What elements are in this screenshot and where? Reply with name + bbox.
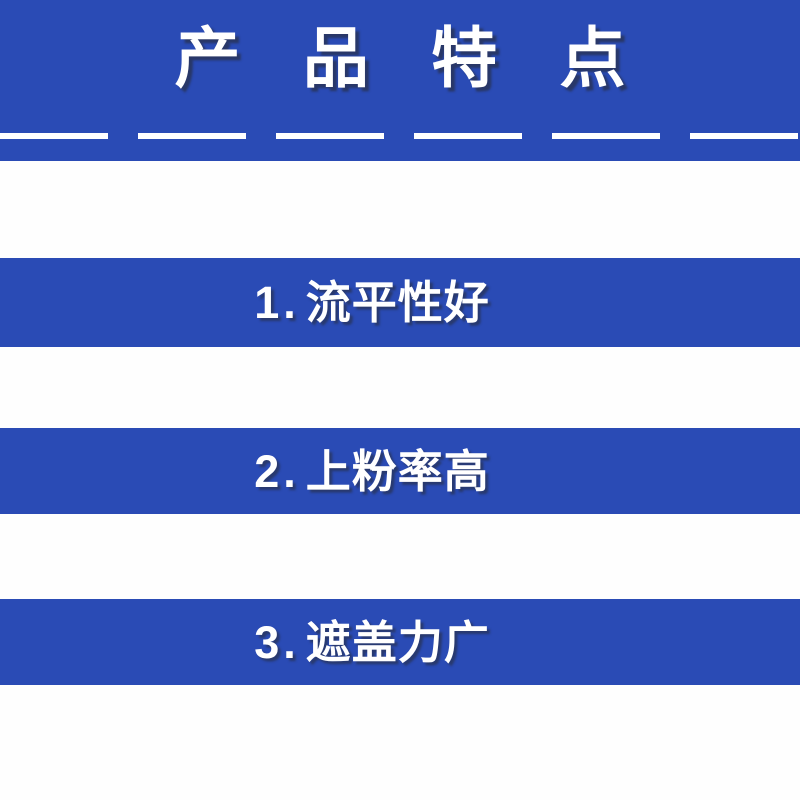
feature-index-2: 2. [254, 446, 306, 497]
feature-text-3: 3.遮盖力广 [254, 620, 490, 665]
header-banner: 产 品 特 点 [0, 0, 800, 161]
feature-index-3: 3. [254, 617, 306, 668]
page-title: 产 品 特 点 [0, 16, 800, 100]
feature-bar-2: 2.上粉率高 [0, 428, 800, 514]
feature-label-3: 遮盖力广 [306, 617, 490, 668]
feature-index-1: 1. [254, 277, 306, 328]
dashed-divider-icon [0, 133, 800, 139]
feature-bar-3: 3.遮盖力广 [0, 599, 800, 685]
product-features-poster: 产 品 特 点 1.流平性好 2.上粉率高 3.遮盖力广 [0, 0, 800, 800]
feature-text-1: 1.流平性好 [254, 280, 490, 325]
feature-text-2: 2.上粉率高 [254, 449, 490, 494]
feature-label-1: 流平性好 [306, 277, 490, 328]
feature-bar-1: 1.流平性好 [0, 258, 800, 347]
feature-label-2: 上粉率高 [306, 446, 490, 497]
